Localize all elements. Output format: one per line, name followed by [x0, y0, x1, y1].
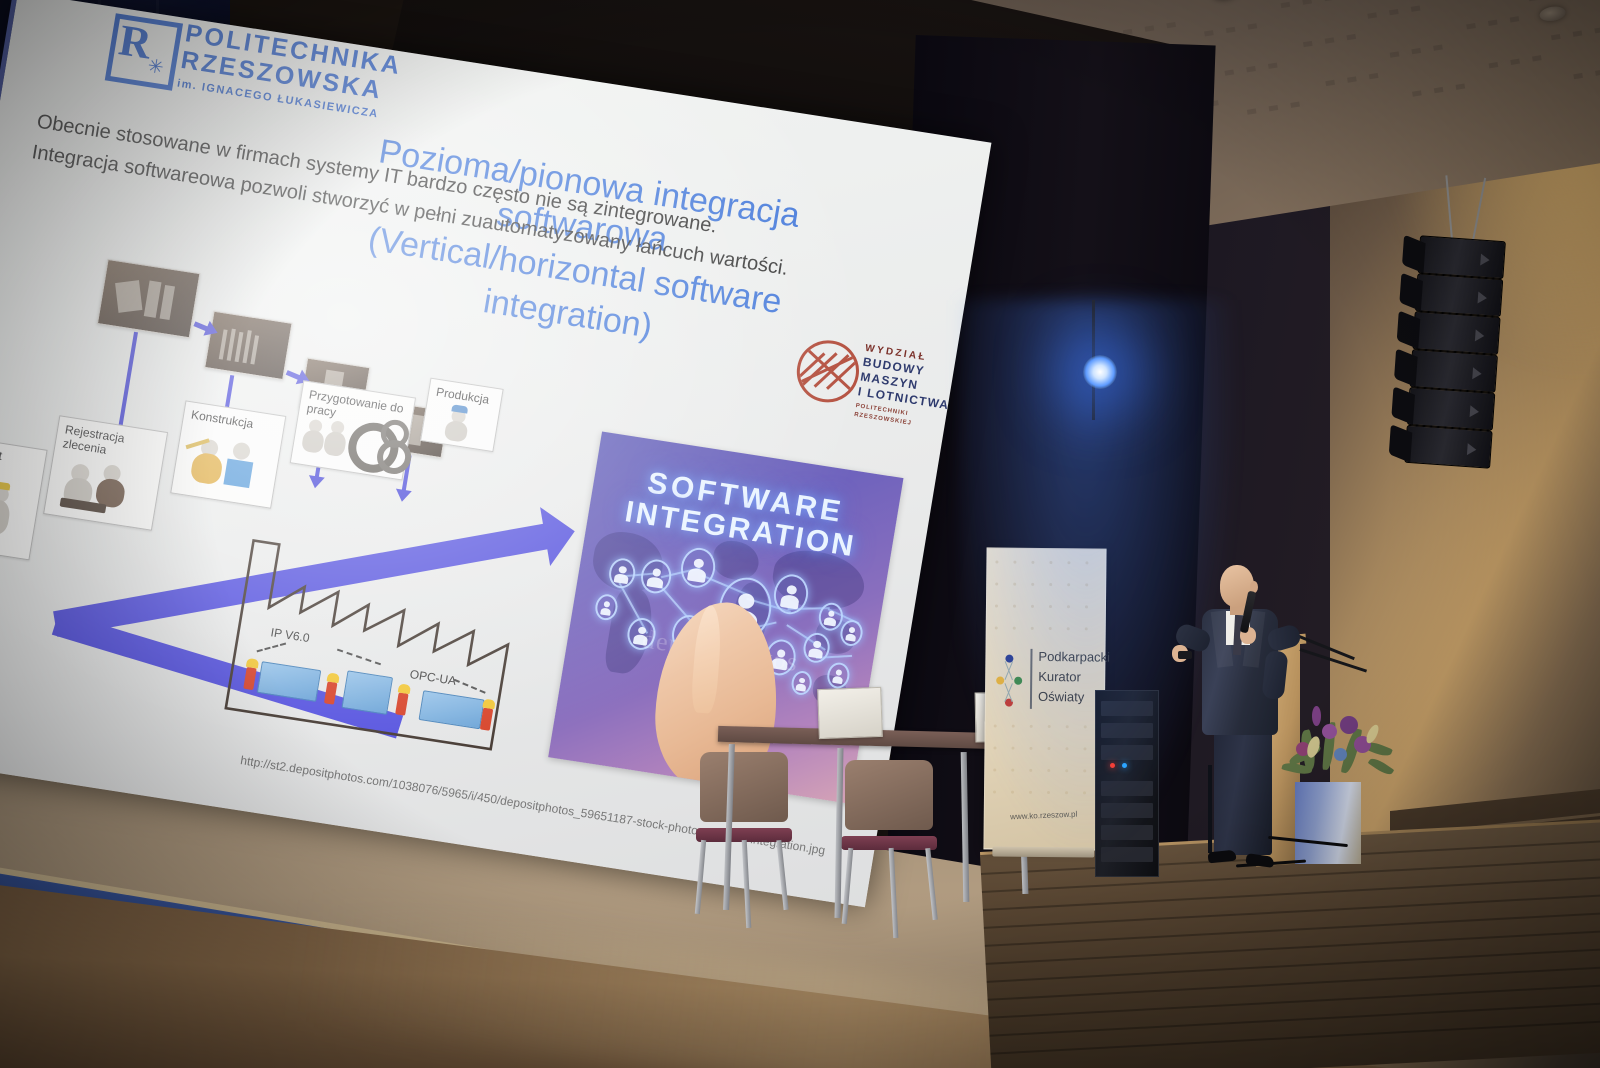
presenter-shoe-left — [1208, 850, 1237, 864]
flower — [1334, 748, 1347, 761]
factory-machine-2 — [341, 670, 393, 715]
process-card-przygotowanie: Przygotowanie do pracy — [290, 380, 416, 480]
software-integration-image: SOFTWARE INTEGRATION — [548, 432, 903, 804]
process-photo-1 — [97, 259, 201, 338]
process-card-produkcja: Produkcja — [420, 378, 504, 452]
line-array-speaker — [1404, 235, 1506, 470]
flower-planter — [1295, 782, 1361, 864]
blue-stage-spotlight — [1083, 355, 1117, 389]
flower — [1322, 724, 1337, 739]
chain-arrow-2 — [286, 370, 301, 380]
process-photo-2 — [204, 311, 293, 380]
faculty-logo: WYDZIAŁ BUDOWY MASZYN I LOTNICTWA POLITE… — [788, 328, 962, 449]
presentation-clicker — [1178, 651, 1192, 659]
university-emblem-icon: R ✳ — [106, 13, 177, 84]
flower — [1364, 723, 1381, 745]
flower — [1340, 716, 1358, 734]
flower-arrangement — [1282, 690, 1392, 790]
chain-arrow-1 — [193, 321, 208, 331]
screen-edge — [0, 0, 18, 757]
flower — [1312, 706, 1321, 726]
conference-photo: R ✳ POLITECHNIKA RZESZOWSKA im. IGNACEGO… — [0, 0, 1600, 1068]
emblem-star-icon: ✳ — [146, 57, 165, 78]
process-card-label: Konstrukcja — [190, 408, 279, 435]
process-card-label: Klient — [0, 444, 41, 468]
faculty-emblem-icon — [792, 336, 863, 407]
process-card-label: Produkcja — [435, 385, 497, 408]
name-card-left — [817, 687, 883, 739]
process-card-klient: Klient — [0, 437, 48, 560]
